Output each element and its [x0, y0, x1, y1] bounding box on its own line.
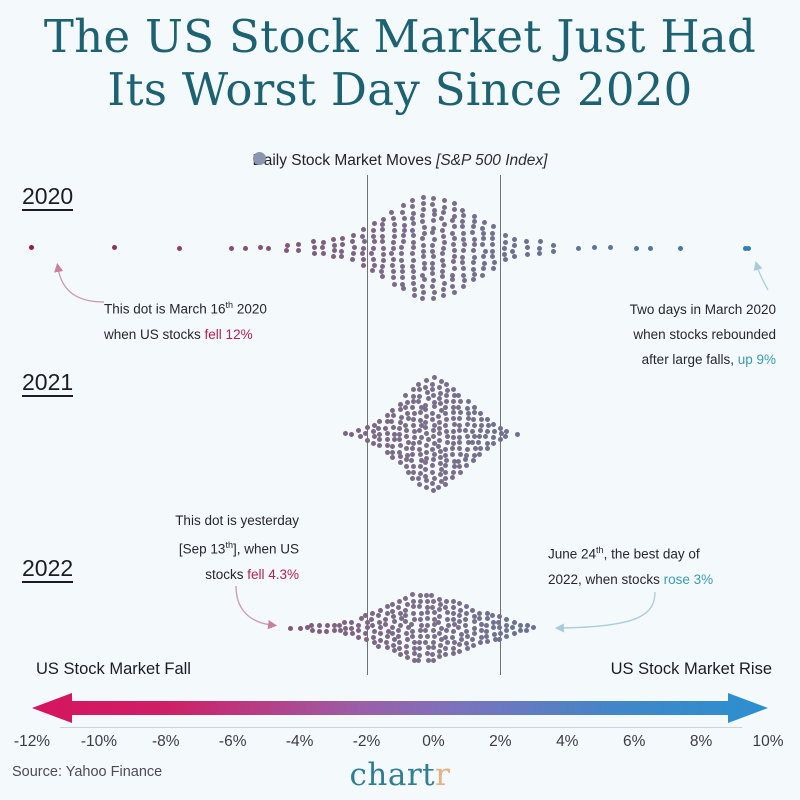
data-dot	[398, 652, 403, 657]
data-dot	[422, 277, 427, 282]
data-dot	[391, 643, 396, 648]
data-dot	[461, 266, 466, 271]
data-dot	[445, 388, 450, 393]
data-dot	[472, 214, 477, 219]
data-dot	[440, 251, 445, 256]
data-dot	[372, 221, 377, 226]
data-dot	[370, 611, 375, 616]
data-dot	[451, 387, 456, 392]
data-dot	[478, 640, 483, 645]
data-dot	[470, 608, 475, 613]
data-dot	[457, 440, 462, 445]
data-dot	[452, 224, 457, 229]
data-dot	[417, 428, 422, 433]
data-dot	[372, 263, 377, 268]
data-dot	[411, 233, 416, 238]
data-dot	[423, 407, 428, 412]
data-dot	[410, 204, 415, 209]
data-dot	[443, 476, 448, 481]
data-dot	[430, 243, 435, 248]
data-dot	[484, 623, 489, 628]
data-dot	[372, 239, 377, 244]
data-dot	[441, 263, 446, 268]
data-dot	[418, 410, 423, 415]
data-dot	[498, 426, 503, 431]
data-dot	[510, 249, 515, 254]
data-dot	[485, 639, 490, 644]
data-dot	[443, 405, 448, 410]
data-dot	[402, 216, 407, 221]
data-dot	[492, 260, 497, 265]
double-arrow-shape	[32, 693, 768, 723]
data-dot	[397, 432, 402, 437]
data-dot	[417, 387, 422, 392]
data-dot	[412, 411, 417, 416]
data-dot	[437, 431, 442, 436]
data-dot	[451, 629, 456, 634]
annotation-line: when stocks rebounded	[606, 322, 776, 347]
data-dot	[472, 255, 477, 260]
data-dot	[430, 470, 435, 475]
data-dot	[443, 635, 448, 640]
data-dot	[452, 248, 457, 253]
data-dot	[350, 631, 355, 636]
data-dot	[406, 470, 411, 475]
data-dot	[463, 617, 468, 622]
data-dot	[465, 434, 470, 439]
data-dot	[442, 281, 447, 286]
data-dot	[420, 296, 425, 301]
data-dot	[471, 458, 476, 463]
data-dot	[472, 619, 477, 624]
data-dot	[512, 237, 517, 242]
data-dot	[490, 254, 495, 259]
data-dot	[463, 623, 468, 628]
data-dot	[411, 245, 416, 250]
data-dot	[432, 375, 437, 380]
data-dot	[466, 416, 471, 421]
data-dot	[458, 452, 463, 457]
axis-rule	[60, 727, 742, 728]
data-dot	[392, 619, 397, 624]
infographic-root: The US Stock Market Just Had Its Worst D…	[0, 0, 800, 800]
data-dot	[457, 423, 462, 428]
data-dot	[465, 406, 470, 411]
data-dot	[480, 273, 485, 278]
data-dot	[459, 632, 464, 637]
data-dot	[400, 210, 405, 215]
annotation-ordinal: th	[226, 300, 234, 310]
data-dot	[445, 617, 450, 622]
data-dot	[417, 653, 422, 658]
data-dot	[356, 628, 361, 633]
data-dot	[378, 631, 383, 636]
data-dot	[112, 245, 117, 250]
data-dot	[437, 649, 442, 654]
data-dot	[403, 613, 408, 618]
data-dot	[443, 463, 448, 468]
data-dot	[411, 275, 416, 280]
data-dot	[380, 227, 385, 232]
data-dot	[443, 652, 448, 657]
data-dot	[356, 635, 361, 640]
data-dot	[490, 613, 495, 618]
data-dot	[443, 423, 448, 428]
data-dot	[380, 239, 385, 244]
data-dot	[411, 269, 416, 274]
data-dot	[442, 240, 447, 245]
data-dot	[460, 224, 465, 229]
data-dot	[465, 422, 470, 427]
data-dot	[451, 399, 456, 404]
data-dot	[390, 408, 395, 413]
data-dot	[422, 266, 427, 271]
data-dot	[470, 440, 475, 445]
data-dot	[457, 464, 462, 469]
tick-label: -12%	[14, 733, 50, 751]
data-dot	[381, 246, 386, 251]
data-dot	[390, 455, 395, 460]
tick-label: 10%	[752, 733, 783, 751]
data-dot	[461, 273, 466, 278]
data-dot	[418, 464, 423, 469]
data-dot	[284, 248, 289, 253]
data-dot	[456, 393, 461, 398]
data-dot	[437, 420, 442, 425]
data-dot	[457, 619, 462, 624]
data-dot	[390, 631, 395, 636]
data-dot	[471, 260, 476, 265]
data-dot	[409, 622, 414, 627]
data-dot	[450, 284, 455, 289]
annotation-text: This dot is March 16	[104, 302, 226, 317]
data-dot	[369, 617, 374, 622]
data-dot	[512, 620, 517, 625]
data-dot	[370, 623, 375, 628]
data-dot	[439, 216, 444, 221]
data-dot	[391, 413, 396, 418]
data-dot	[370, 268, 375, 273]
data-dot	[332, 623, 337, 628]
data-dot	[371, 441, 376, 446]
data-dot	[491, 441, 496, 446]
data-dot	[471, 417, 476, 422]
data-dot	[410, 446, 415, 451]
data-dot	[343, 626, 348, 631]
data-dot	[378, 625, 383, 630]
data-dot	[372, 434, 377, 439]
data-dot	[296, 242, 301, 247]
data-dot	[350, 239, 355, 244]
data-dot	[445, 440, 450, 445]
data-dot	[430, 481, 435, 486]
data-dot	[349, 626, 354, 631]
data-dot	[464, 604, 469, 609]
data-dot	[390, 444, 395, 449]
data-dot	[512, 243, 517, 248]
data-dot	[491, 266, 496, 271]
data-dot	[477, 452, 482, 457]
gradient-direction-bar	[0, 690, 800, 726]
data-dot	[485, 429, 490, 434]
data-dot	[403, 608, 408, 613]
data-dot	[392, 228, 397, 233]
data-dot	[445, 640, 450, 645]
data-dot	[461, 248, 466, 253]
data-dot	[411, 611, 416, 616]
data-dot	[410, 198, 415, 203]
data-dot	[298, 626, 303, 631]
data-dot	[746, 246, 751, 251]
data-dot	[456, 625, 461, 630]
data-dot	[436, 444, 441, 449]
data-dot	[312, 245, 317, 250]
annotation-highlight: up 9%	[738, 352, 776, 367]
data-dot	[462, 242, 467, 247]
data-dot	[419, 435, 424, 440]
data-dot	[537, 246, 542, 251]
data-dot	[397, 437, 402, 442]
data-dot	[399, 245, 404, 250]
data-dot	[471, 277, 476, 282]
data-dot	[551, 243, 556, 248]
data-dot	[363, 613, 368, 618]
data-dot	[437, 614, 442, 619]
data-dot	[381, 258, 386, 263]
data-dot	[430, 411, 435, 416]
data-dot	[396, 634, 401, 639]
data-dot	[418, 452, 423, 457]
data-dot	[504, 617, 509, 622]
data-dot	[404, 631, 409, 636]
data-dot	[431, 254, 436, 259]
data-dot	[391, 425, 396, 430]
data-dot	[371, 635, 376, 640]
data-dot	[177, 246, 182, 251]
data-dot	[432, 404, 437, 409]
data-dot	[503, 257, 508, 262]
annotation-line: This dot is March 16th 2020	[104, 293, 267, 322]
title-line-1: The US Stock Market Just Had	[44, 10, 756, 63]
data-dot	[381, 217, 386, 222]
data-dot	[405, 400, 410, 405]
data-dot	[402, 223, 407, 228]
annotation-text: after large falls,	[642, 352, 738, 367]
data-dot	[432, 237, 437, 242]
data-dot	[411, 394, 416, 399]
annotation-text-tail: ], when US	[233, 542, 299, 557]
data-dot	[356, 428, 361, 433]
data-dot	[418, 418, 423, 423]
annotation-ordinal: th	[596, 545, 604, 555]
data-dot	[338, 628, 343, 633]
data-dot	[431, 196, 436, 201]
data-dot	[399, 258, 404, 263]
data-dot	[310, 628, 315, 633]
data-dot	[486, 423, 491, 428]
data-dot	[470, 230, 475, 235]
data-dot	[417, 440, 422, 445]
beeswarm-plot	[0, 175, 800, 675]
data-dot	[417, 604, 422, 609]
data-dot	[364, 637, 369, 642]
data-dot	[351, 251, 356, 256]
data-dot	[401, 233, 406, 238]
data-dot	[421, 254, 426, 259]
data-dot	[443, 447, 448, 452]
data-dot	[441, 234, 446, 239]
data-dot	[431, 457, 436, 462]
data-dot	[524, 239, 529, 244]
data-dot	[422, 225, 427, 230]
data-dot	[404, 446, 409, 451]
data-dot	[403, 596, 408, 601]
data-dot	[458, 470, 463, 475]
annotation-ordinal: th	[225, 540, 233, 550]
data-dot	[472, 242, 477, 247]
data-dot	[376, 644, 381, 649]
data-dot	[312, 251, 317, 256]
data-dot	[410, 405, 415, 410]
data-dot	[339, 254, 344, 259]
data-dot	[481, 266, 486, 271]
data-dot	[491, 422, 496, 427]
data-dot	[420, 284, 425, 289]
legend-sublabel: [S&P 500 Index]	[436, 152, 547, 169]
tick-label: 2%	[489, 733, 511, 751]
data-dot	[442, 222, 447, 227]
data-dot	[443, 453, 448, 458]
data-dot	[29, 245, 34, 250]
data-dot	[432, 452, 437, 457]
data-dot	[405, 602, 410, 607]
annotation-highlight: rose 3%	[664, 572, 714, 587]
data-dot	[430, 463, 435, 468]
data-dot	[343, 431, 348, 436]
data-dot	[430, 230, 435, 235]
data-dot	[332, 243, 337, 248]
data-dot	[362, 239, 367, 244]
legend-label: Daily Stock Market Moves	[253, 152, 432, 169]
data-dot	[430, 652, 435, 657]
data-dot	[458, 399, 463, 404]
data-dot	[436, 620, 441, 625]
data-dot	[512, 254, 517, 259]
data-dot	[472, 631, 477, 636]
data-dot	[477, 434, 482, 439]
annotation-line: 2022, when stocks rose 3%	[548, 567, 713, 592]
data-dot	[420, 219, 425, 224]
data-dot	[452, 266, 457, 271]
data-dot	[397, 640, 402, 645]
data-dot	[401, 203, 406, 208]
data-dot	[403, 423, 408, 428]
data-dot	[309, 623, 314, 628]
data-dot	[406, 416, 411, 421]
annotation-text: June 24	[548, 547, 596, 562]
data-dot	[525, 245, 530, 250]
data-dot	[465, 646, 470, 651]
data-dot	[332, 628, 337, 633]
data-dot	[431, 488, 436, 493]
data-dot	[421, 290, 426, 295]
data-dot	[443, 482, 448, 487]
data-dot	[400, 275, 405, 280]
data-dot	[452, 201, 457, 206]
data-dot	[436, 485, 441, 490]
data-dot	[437, 396, 442, 401]
data-dot	[361, 263, 366, 268]
data-dot	[423, 640, 428, 645]
data-dot	[466, 399, 471, 404]
data-dot	[376, 613, 381, 618]
data-dot	[440, 228, 445, 233]
data-dot	[443, 411, 448, 416]
data-dot	[431, 393, 436, 398]
data-dot	[404, 650, 409, 655]
tick-label: -4%	[286, 733, 314, 751]
data-dot	[412, 293, 417, 298]
data-dot	[425, 634, 430, 639]
data-dot	[288, 626, 293, 631]
data-dot	[473, 446, 478, 451]
data-dot	[485, 417, 490, 422]
data-dot	[349, 620, 354, 625]
data-dot	[470, 637, 475, 642]
data-dot	[391, 269, 396, 274]
data-dot	[451, 429, 456, 434]
data-dot	[412, 651, 417, 656]
data-dot	[421, 207, 426, 212]
data-dot	[461, 213, 466, 218]
data-dot	[424, 450, 429, 455]
data-dot	[460, 219, 465, 224]
data-dot	[320, 245, 325, 250]
data-dot	[426, 396, 431, 401]
data-dot	[410, 452, 415, 457]
data-dot	[398, 454, 403, 459]
data-dot	[266, 246, 271, 251]
data-dot	[389, 419, 394, 424]
data-dot	[464, 611, 469, 616]
data-dot	[425, 623, 430, 628]
data-dot	[432, 290, 437, 295]
data-dot	[381, 252, 386, 257]
legend: Daily Stock Market Moves [S&P 500 Index]	[0, 152, 800, 170]
data-dot	[452, 236, 457, 241]
data-dot	[424, 478, 429, 483]
data-dot	[423, 467, 428, 472]
data-dot	[426, 658, 431, 663]
data-dot	[442, 198, 447, 203]
data-dot	[444, 393, 449, 398]
data-dot	[462, 278, 467, 283]
data-dot	[399, 251, 404, 256]
data-dot	[377, 437, 382, 442]
data-dot	[325, 623, 330, 628]
data-dot	[502, 252, 507, 257]
data-dot	[503, 240, 508, 245]
data-dot	[451, 617, 456, 622]
data-dot	[430, 382, 435, 387]
tick-label: -8%	[152, 733, 180, 751]
data-dot	[401, 286, 406, 291]
data-dot	[361, 246, 366, 251]
data-dot	[385, 437, 390, 442]
data-dot	[472, 423, 477, 428]
data-dot	[471, 267, 476, 272]
data-dot	[392, 282, 397, 287]
